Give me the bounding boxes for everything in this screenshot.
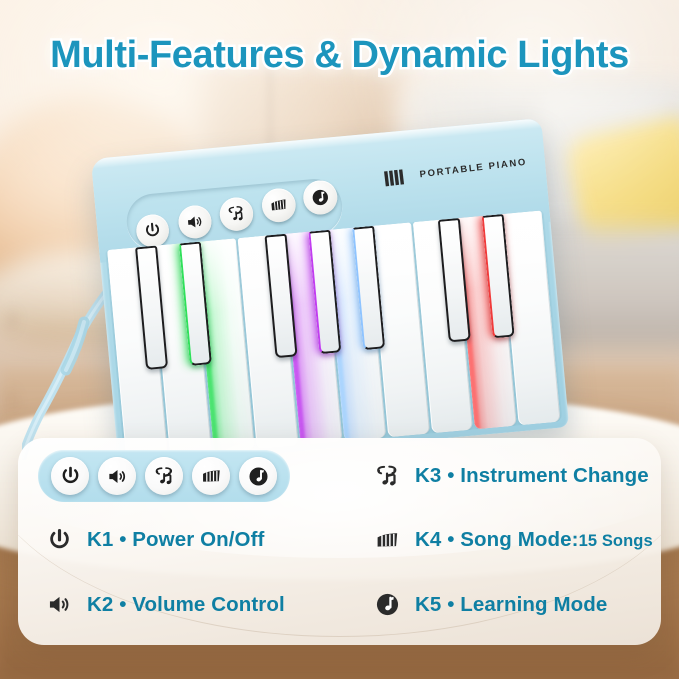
legend-row-k4: K4 • Song Mode:15 Songs — [358, 525, 661, 555]
piano-body: PORTABLE PIANO — [91, 118, 569, 468]
device-button-song-mode[interactable] — [260, 187, 297, 224]
black-key[interactable] — [265, 234, 298, 358]
volume-speaker-icon — [106, 465, 129, 488]
music-note-circle-icon — [247, 465, 270, 488]
power-icon — [142, 220, 163, 241]
piano-keys-icon — [372, 525, 402, 555]
piano-keys-icon — [383, 168, 409, 188]
legend-label-k5: K5 • Learning Mode — [415, 593, 607, 617]
piano-keys-icon — [268, 195, 290, 217]
instrument-change-icon — [153, 465, 176, 488]
legend-row-k3: K3 • Instrument Change — [358, 461, 661, 491]
feature-legend-panel: K3 • Instrument Change K1 • Power On/Off — [18, 438, 661, 645]
device-button-learning-mode[interactable] — [302, 179, 339, 216]
legend-row-k2: K2 • Volume Control — [18, 590, 358, 620]
legend-button-pill — [38, 450, 290, 502]
legend-pill-button-song-mode[interactable] — [192, 457, 230, 495]
black-key[interactable] — [438, 218, 471, 342]
device-button-instrument-change[interactable] — [218, 196, 254, 232]
black-key-lit[interactable] — [179, 241, 212, 365]
device-button-volume[interactable] — [177, 204, 213, 240]
music-note-circle-icon — [309, 187, 331, 209]
piano-keys-icon — [200, 465, 223, 488]
black-key-lit[interactable] — [308, 230, 341, 354]
legend-pill-button-learning-mode[interactable] — [239, 457, 277, 495]
power-icon — [59, 465, 82, 488]
legend-row-k5: K5 • Learning Mode — [358, 590, 661, 620]
piano-keybed — [105, 210, 562, 461]
volume-speaker-icon — [44, 590, 74, 620]
legend-pill-button-power[interactable] — [51, 457, 89, 495]
legend-grid: K3 • Instrument Change K1 • Power On/Off — [18, 438, 661, 645]
legend-row-k1: K1 • Power On/Off — [18, 525, 358, 555]
black-key-lit[interactable] — [352, 226, 385, 350]
legend-label-k3: K3 • Instrument Change — [415, 464, 649, 488]
legend-pill-button-instrument-change[interactable] — [145, 457, 183, 495]
black-key[interactable] — [135, 245, 168, 369]
instrument-change-icon — [226, 204, 247, 225]
legend-pill-button-volume[interactable] — [98, 457, 136, 495]
instrument-change-icon — [372, 461, 402, 491]
power-icon — [44, 525, 74, 555]
legend-label-k4: K4 • Song Mode:15 Songs — [415, 528, 653, 552]
legend-label-k2: K2 • Volume Control — [87, 593, 285, 617]
volume-speaker-icon — [184, 211, 205, 232]
portable-piano-device: PORTABLE PIANO — [91, 118, 569, 468]
product-feature-image: Multi-Features & Dynamic Lights — [0, 0, 679, 679]
device-button-power[interactable] — [135, 213, 170, 248]
black-key-lit[interactable] — [482, 214, 515, 338]
legend-label-k1: K1 • Power On/Off — [87, 528, 264, 552]
music-note-circle-icon — [372, 590, 402, 620]
page-title: Multi-Features & Dynamic Lights — [0, 36, 679, 74]
